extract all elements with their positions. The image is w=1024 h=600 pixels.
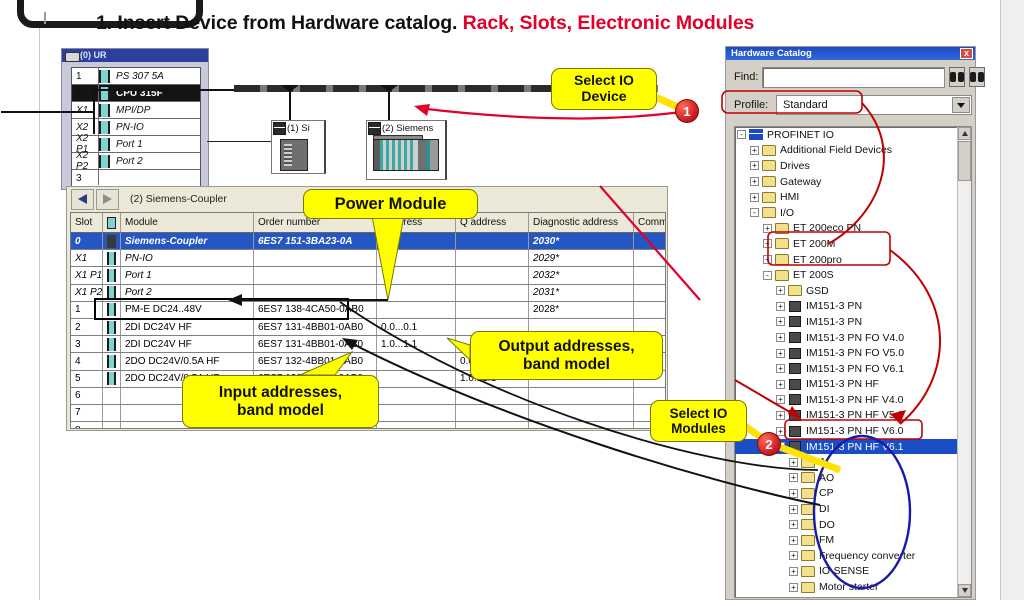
expand-icon[interactable]: +	[763, 239, 772, 248]
scroll-down-button[interactable]	[958, 584, 971, 597]
cell-order: 6ES7 151-3BA23-0A	[254, 233, 377, 249]
io-device-2[interactable]: (2) Siemens	[366, 120, 447, 180]
cell-comment	[634, 302, 665, 318]
cell-i-address	[377, 353, 456, 369]
cell-order: 6ES7 138-4CA50-0AB0	[254, 302, 377, 318]
cell-module: Port 2	[121, 285, 254, 301]
folder-icon	[801, 566, 815, 577]
find-next-button[interactable]	[949, 67, 965, 87]
catalog-tree-item[interactable]: +Additional Field Devices	[735, 143, 971, 159]
expand-icon[interactable]: +	[776, 395, 785, 404]
scroll-up-button[interactable]	[958, 127, 971, 140]
cell-q-address	[456, 250, 529, 266]
module-icon	[99, 138, 110, 151]
cell-diagnostic: 2028*	[529, 302, 634, 318]
cell-slot: 0	[71, 233, 103, 249]
module-icon	[107, 235, 116, 248]
cell-slot: X1	[71, 250, 103, 266]
callout-line-2: Device	[581, 89, 626, 105]
expand-icon[interactable]: +	[789, 489, 798, 498]
slide-root: 1. Insert Device from Hardware catalog. …	[0, 0, 1024, 600]
module-icon	[107, 303, 116, 316]
folder-icon	[801, 457, 815, 468]
expand-icon[interactable]: +	[776, 427, 785, 436]
catalog-tree-item-label: IM151-3 PN HF V6.1	[806, 441, 903, 453]
rack-slot-number: X2 P2	[72, 150, 99, 172]
module-icon	[99, 155, 110, 168]
folder-icon	[775, 254, 789, 265]
catalog-tree-item-label: I/O	[780, 207, 794, 219]
column-header-diagnostic-address[interactable]: Diagnostic address	[529, 213, 634, 232]
folder-icon	[775, 238, 789, 249]
column-header-slot[interactable]: Slot	[71, 213, 103, 232]
callout-stem	[44, 12, 46, 24]
detail-nav-label: (2) Siemens-Coupler	[130, 193, 227, 205]
catalog-tree-item-label: GSD	[806, 285, 829, 297]
catalog-tree-item-label: IM151-3 PN FO V6.1	[806, 363, 904, 375]
cell-diagnostic: 2030*	[529, 233, 634, 249]
caret-down-icon	[962, 588, 968, 593]
expand-icon[interactable]: +	[789, 520, 798, 529]
cell-slot: 2	[71, 319, 103, 335]
cell-diagnostic	[529, 422, 634, 429]
catalog-tree-item[interactable]: +HMI	[735, 189, 971, 205]
catalog-tree-item[interactable]: +Frequency converter	[735, 548, 971, 564]
folder-icon	[762, 160, 776, 171]
catalog-tree-item-label: ET 200eco PN	[793, 222, 861, 234]
cell-diagnostic: 2032*	[529, 267, 634, 283]
folder-icon	[762, 192, 776, 203]
catalog-tree-item-label: ET 200M	[793, 238, 835, 250]
cell-order: 6ES7 131-4BB01-0AB0	[254, 336, 377, 352]
profile-label: Profile:	[734, 99, 772, 111]
find-row: Find:	[728, 62, 975, 88]
catalog-tree-item[interactable]: +FM	[735, 532, 971, 548]
cell-icon	[103, 285, 121, 301]
expand-icon[interactable]: +	[776, 317, 785, 326]
cell-i-address	[377, 405, 456, 421]
rack-slot-number: 3	[72, 173, 99, 184]
caret-up-icon	[962, 131, 968, 136]
device-icon	[789, 379, 801, 390]
device-icon	[789, 316, 801, 327]
collapse-icon[interactable]: -	[750, 208, 759, 217]
folder-icon	[801, 488, 815, 499]
catalog-tree-item-label: Gateway	[780, 176, 821, 188]
cell-icon	[103, 388, 121, 404]
profile-selected-value: Standard	[783, 99, 828, 111]
cell-icon	[103, 422, 121, 429]
catalog-tree-item[interactable]: +IM151-3 PN	[735, 299, 971, 315]
catalog-tree-item-label: IM151-3 PN HF V6.0	[806, 425, 903, 437]
module-icon	[99, 172, 110, 185]
table-row[interactable]: 1 PM-E DC24..48V 6ES7 138-4CA50-0AB0 202…	[71, 302, 665, 319]
expand-icon[interactable]: +	[776, 364, 785, 373]
callout-line-1: Select IO	[670, 406, 728, 421]
cell-slot: 8	[71, 422, 103, 429]
module-icon	[107, 252, 116, 265]
callout-line-2: Modules	[671, 421, 726, 436]
close-icon[interactable]: x	[960, 48, 973, 59]
cell-order: 6ES7 132-4BB01-0AB0	[254, 353, 377, 369]
catalog-tree-item[interactable]: +ET 200M	[735, 236, 971, 252]
cell-i-address	[377, 285, 456, 301]
cell-order	[254, 250, 377, 266]
cell-q-address	[456, 405, 529, 421]
cell-module: 2DI DC24V HF	[121, 319, 254, 335]
expand-icon[interactable]: +	[789, 473, 798, 482]
headline-main-text: 1. Insert Device from Hardware catalog.	[96, 12, 457, 34]
catalog-tree-item[interactable]: -I/O	[735, 205, 971, 221]
catalog-tree-item-label: IM151-3 PN HF V4.0	[806, 394, 903, 406]
io-device-label: (1) Si	[286, 123, 310, 134]
cell-icon	[103, 353, 121, 369]
cell-module: Siemens-Coupler	[121, 233, 254, 249]
catalog-tree-item-label: IM151-3 PN HF V5.0	[806, 409, 903, 421]
cell-diagnostic: 2029*	[529, 250, 634, 266]
cell-icon	[103, 250, 121, 266]
catalog-tree-item[interactable]: +IO-SENSE	[735, 564, 971, 580]
device-icon	[368, 122, 381, 135]
cell-q-address	[456, 233, 529, 249]
callout-select-io-device: Select IO Device	[551, 68, 657, 110]
hardware-catalog-title: Hardware Catalog	[731, 48, 960, 59]
rack-module-name: MPI/DP	[110, 105, 200, 116]
cell-slot: X1 P1	[71, 267, 103, 283]
column-header-icon[interactable]	[103, 213, 121, 232]
cell-slot: 6	[71, 388, 103, 404]
catalog-tree-item-label: IO-SENSE	[819, 565, 869, 577]
cell-q-address	[456, 302, 529, 318]
callout-input-addresses: Input addresses, band model	[182, 375, 379, 428]
cell-q-address	[456, 267, 529, 283]
bus-segment-horizontal	[93, 89, 235, 91]
collapse-icon[interactable]: -	[737, 130, 746, 139]
rack-slot-table[interactable]: 1 PS 307 5A 2 CPU 315F X1 MPI/DP X2	[71, 67, 201, 187]
cell-diagnostic	[529, 405, 634, 421]
expand-icon[interactable]: +	[750, 161, 759, 170]
expand-icon[interactable]: +	[789, 583, 798, 592]
device-icon	[789, 363, 801, 374]
catalog-tree-item[interactable]: +DO	[735, 517, 971, 533]
table-row[interactable]: X1 P2 Port 2 2031*	[71, 285, 665, 302]
callout-select-io-modules: Select IO Modules	[650, 400, 747, 442]
cell-icon	[103, 233, 121, 249]
module-icon	[99, 104, 110, 117]
catalog-tree-item-label: IM151-3 PN	[806, 316, 862, 328]
folder-icon	[801, 535, 815, 546]
folder-icon	[801, 504, 815, 515]
rack-row[interactable]: 3	[72, 170, 200, 187]
catalog-tree-item[interactable]: +IM151-3 PN FO V6.1	[735, 361, 971, 377]
folder-icon	[801, 582, 815, 593]
module-icon	[107, 355, 116, 368]
expand-icon[interactable]: +	[763, 255, 772, 264]
cell-icon	[103, 267, 121, 283]
cell-comment	[634, 285, 665, 301]
cell-module: PM-E DC24..48V	[121, 302, 254, 318]
callout-line-2: band model	[237, 402, 324, 420]
rack-row[interactable]: 1 PS 307 5A	[72, 68, 200, 85]
folder-icon	[801, 550, 815, 561]
catalog-tree-item[interactable]: +GSD	[735, 283, 971, 299]
expand-icon[interactable]: +	[789, 536, 798, 545]
module-icon	[107, 286, 116, 299]
chevron-down-icon[interactable]	[952, 97, 970, 113]
cell-module: Port 1	[121, 267, 254, 283]
cell-i-address	[377, 233, 456, 249]
callout-line-2: band model	[523, 356, 610, 374]
expand-icon[interactable]: +	[776, 333, 785, 342]
catalog-tree-item-label: FM	[819, 534, 834, 546]
hardware-catalog-titlebar[interactable]: Hardware Catalog x	[726, 47, 975, 60]
cell-i-address	[377, 422, 456, 429]
rack-module-name: PS 307 5A	[110, 71, 200, 82]
catalog-tree-item-label: IM151-3 PN FO V4.0	[806, 332, 904, 344]
cell-order	[254, 285, 377, 301]
find-prev-button[interactable]	[969, 67, 985, 87]
folder-icon	[762, 176, 776, 187]
catalog-tree-item[interactable]: +IM151-3 PN FO V4.0	[735, 330, 971, 346]
hardware-catalog-window: Hardware Catalog x Find: Profile: Standa…	[725, 46, 976, 600]
cell-order	[254, 267, 377, 283]
cell-module: PN-IO	[121, 250, 254, 266]
callout-line-1: Power Module	[335, 195, 447, 214]
folder-icon	[762, 145, 776, 156]
step-badge-1: 1	[675, 99, 699, 123]
expand-icon[interactable]: +	[750, 146, 759, 155]
catalog-tree-item[interactable]: -PROFINET IO	[735, 127, 971, 143]
callout-power-module: Power Module	[303, 189, 478, 219]
expand-icon[interactable]: +	[750, 193, 759, 202]
catalog-tree-item-label: Frequency converter	[819, 550, 915, 562]
catalog-tree-item[interactable]: +IM151-3 PN HF V5.0	[735, 408, 971, 424]
expand-icon[interactable]: +	[776, 349, 785, 358]
catalog-tree-item-label: IM151-3 PN	[806, 300, 862, 312]
catalog-tree-item[interactable]: +IM151-3 PN HF V4.0	[735, 392, 971, 408]
nav-back-button[interactable]	[71, 189, 94, 210]
module-icon	[107, 338, 116, 351]
cell-q-address	[456, 422, 529, 429]
expand-icon[interactable]: +	[789, 551, 798, 560]
cell-comment	[634, 233, 665, 249]
caret-glyph	[957, 103, 965, 108]
table-row[interactable]: 0 Siemens-Coupler 6ES7 151-3BA23-0A 2030…	[71, 233, 665, 250]
cell-i-address: 0.0...0.1	[377, 319, 456, 335]
cell-module: 2DI DC24V HF	[121, 336, 254, 352]
catalog-tree-item-label: PROFINET IO	[767, 129, 834, 141]
cell-icon	[103, 336, 121, 352]
rack-slot-number: 1	[72, 71, 99, 82]
expand-icon[interactable]: +	[776, 286, 785, 295]
expand-icon[interactable]: +	[789, 458, 798, 467]
io-device-label: (2) Siemens	[381, 123, 433, 134]
io-device-header: (1) Si	[272, 121, 324, 136]
bus-segment-left	[1, 111, 93, 113]
module-icon	[107, 372, 116, 385]
cell-comment	[634, 267, 665, 283]
callout-output-addresses: Output addresses, band model	[470, 331, 663, 380]
slide-headline: 1. Insert Device from Hardware catalog. …	[96, 12, 754, 35]
catalog-tree-item-label: ET 200S	[793, 269, 834, 281]
expand-icon[interactable]: +	[776, 302, 785, 311]
callout-line-1: Input addresses,	[219, 384, 342, 402]
device-icon	[789, 410, 801, 421]
folder-icon	[801, 597, 815, 598]
catalog-tree-item-label: DI	[819, 503, 830, 515]
profile-row: Profile: Standard	[728, 88, 975, 116]
module-icon	[107, 269, 116, 282]
cell-slot: 3	[71, 336, 103, 352]
io-device-1[interactable]: (1) Si	[271, 120, 326, 174]
bus-drop-line	[289, 92, 291, 120]
device-icon	[789, 332, 801, 343]
cell-i-address	[377, 371, 456, 387]
expand-icon[interactable]: +	[789, 567, 798, 576]
catalog-tree-item-label: AO	[819, 472, 834, 484]
catalog-tree-item[interactable]: +Motor starter	[735, 579, 971, 595]
catalog-tree-item[interactable]: +CP	[735, 486, 971, 502]
catalog-tree[interactable]: -PROFINET IO+Additional Field Devices+Dr…	[734, 126, 972, 598]
cell-i-address	[377, 388, 456, 404]
rack-column-divider	[98, 67, 99, 185]
callout-line-1: Output addresses,	[498, 338, 634, 356]
module-icon	[107, 217, 116, 229]
expand-icon[interactable]: +	[789, 505, 798, 514]
hw-config-canvas: (0) UR 1 PS 307 5A 2 CPU 315F X1 MPI/DP	[41, 45, 717, 600]
step-badge-2: 2	[757, 432, 781, 456]
rack-window[interactable]: (0) UR 1 PS 307 5A 2 CPU 315F X1 MPI/DP	[61, 48, 209, 190]
rack-window-title: (0) UR	[62, 49, 208, 62]
module-icon	[99, 121, 110, 134]
hardware-catalog-body: Find: Profile: Standard -PROFINET IO+Add…	[728, 62, 975, 599]
table-row[interactable]: X1 PN-IO 2029*	[71, 250, 665, 267]
expand-icon[interactable]: +	[776, 411, 785, 420]
catalog-tree-item-label: PM	[819, 597, 835, 598]
folder-icon	[762, 207, 776, 218]
slide-right-margin	[1001, 0, 1024, 600]
cell-module: 2DO DC24V/0.5A HF	[121, 353, 254, 369]
cell-slot: 1	[71, 302, 103, 318]
expand-icon[interactable]: +	[763, 224, 772, 233]
cell-q-address	[456, 388, 529, 404]
folder-icon	[801, 519, 815, 530]
catalog-tree-item[interactable]: +IM151-3 PN	[735, 314, 971, 330]
cell-icon	[103, 405, 121, 421]
rack-row[interactable]: 2 CPU 315F	[72, 85, 200, 102]
cell-diagnostic: 2031*	[529, 285, 634, 301]
slide-left-rule	[39, 16, 40, 600]
callout-line-1: Select IO	[574, 73, 634, 89]
folder-icon	[801, 472, 815, 483]
binoculars-up-icon	[950, 72, 964, 82]
profile-select[interactable]: Standard	[776, 95, 972, 115]
device-graphic	[373, 139, 439, 171]
table-row[interactable]: X1 P1 Port 1 2032*	[71, 267, 665, 284]
folder-icon	[775, 223, 789, 234]
cell-slot: X1 P2	[71, 285, 103, 301]
rack-row[interactable]: X2 P2 Port 2	[72, 153, 200, 170]
catalog-tree-item[interactable]: +PM	[735, 595, 971, 598]
catalog-tree-item-label: HMI	[780, 191, 799, 203]
module-icon	[107, 321, 116, 334]
catalog-tree-item-label: IM151-3 PN FO V5.0	[806, 347, 904, 359]
device-icon	[789, 301, 801, 312]
rack-module-name: Port 1	[110, 139, 200, 150]
catalog-tree-item[interactable]: +IM151-3 PN HF	[735, 377, 971, 393]
column-header-comment[interactable]: Comment	[634, 213, 665, 232]
catalog-tree-item[interactable]: +ET 200pro	[735, 252, 971, 268]
catalog-tree-item[interactable]: -ET 200S	[735, 267, 971, 283]
cell-order: 6ES7 131-4BB01-0AB0	[254, 319, 377, 335]
cell-i-address: 1.0...1.1	[377, 336, 456, 352]
cell-i-address	[377, 302, 456, 318]
device-icon	[789, 426, 801, 437]
catalog-tree-item-label: Motor starter	[819, 581, 879, 593]
catalog-tree-item[interactable]: +AO	[735, 470, 971, 486]
device-icon	[789, 348, 801, 359]
catalog-tree-item[interactable]: +DI	[735, 501, 971, 517]
cell-diagnostic	[529, 388, 634, 404]
collapse-icon[interactable]: -	[763, 271, 772, 280]
device-icon	[273, 122, 286, 135]
catalog-tree-item-label: Drives	[780, 160, 810, 172]
cell-icon	[103, 319, 121, 335]
search-input[interactable]	[762, 67, 945, 88]
headline-accent-text: Rack, Slots, Electronic Modules	[463, 12, 755, 34]
cell-i-address	[377, 267, 456, 283]
cell-q-address	[456, 285, 529, 301]
scrollbar-thumb[interactable]	[958, 141, 971, 181]
cell-slot: 4	[71, 353, 103, 369]
device-icon	[789, 394, 801, 405]
cell-slot: 5	[71, 371, 103, 387]
catalog-tree-item-label: CP	[819, 487, 834, 499]
find-label: Find:	[734, 71, 758, 83]
catalog-scrollbar[interactable]	[957, 127, 971, 597]
bus-segment-vertical	[93, 90, 95, 134]
folder-icon	[775, 270, 789, 281]
network-icon	[749, 129, 763, 140]
bus-drop-line	[388, 92, 390, 120]
cell-icon	[103, 371, 121, 387]
catalog-tree-item[interactable]: +Drives	[735, 158, 971, 174]
rack-module-name: PN-IO	[110, 122, 200, 133]
catalog-tree-item-label: ET 200pro	[793, 254, 842, 266]
binoculars-down-icon	[970, 72, 984, 82]
rack-window-icon	[65, 52, 80, 62]
catalog-tree-item-label: IM151-3 PN HF	[806, 378, 879, 390]
catalog-tree-item[interactable]: +AI	[735, 454, 971, 470]
device-graphic	[280, 139, 308, 171]
column-header-module[interactable]: Module	[121, 213, 254, 232]
catalog-tree-item[interactable]: +Gateway	[735, 174, 971, 190]
device-icon	[789, 441, 801, 452]
arrow-left-icon	[78, 194, 87, 204]
catalog-tree-item[interactable]: +ET 200eco PN	[735, 221, 971, 237]
catalog-tree-item-label: DO	[819, 519, 835, 531]
cell-icon	[103, 302, 121, 318]
cell-comment	[634, 250, 665, 266]
catalog-tree-nodes: -PROFINET IO+Additional Field Devices+Dr…	[735, 127, 971, 598]
cell-i-address	[377, 250, 456, 266]
arrow-right-icon	[103, 194, 112, 204]
module-icon	[99, 70, 110, 83]
nav-forward-button[interactable]	[96, 189, 119, 210]
catalog-tree-item[interactable]: +IM151-3 PN FO V5.0	[735, 345, 971, 361]
expand-icon[interactable]: +	[750, 177, 759, 186]
expand-icon[interactable]: +	[776, 380, 785, 389]
